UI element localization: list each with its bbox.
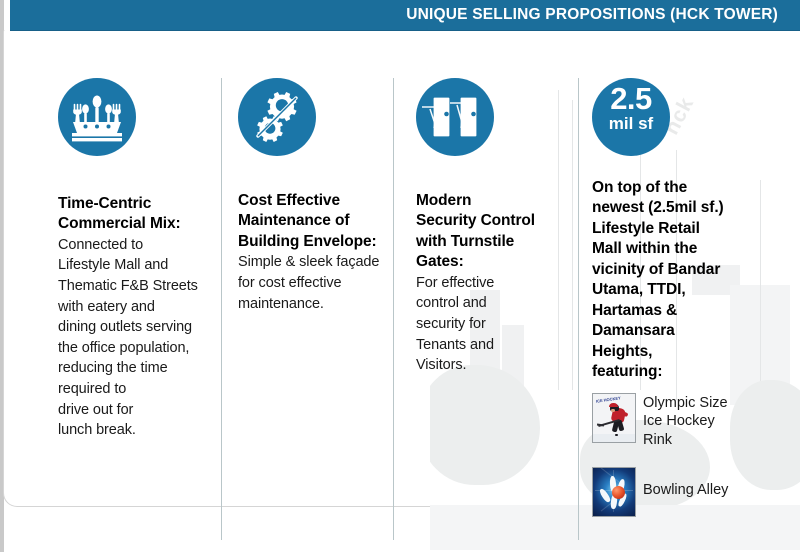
feature-label: Bowling Alley: [643, 467, 728, 500]
crown-cutlery-icon: [58, 78, 136, 156]
column-heading: Time-Centric Commercial Mix:: [58, 194, 216, 235]
column-divider-2: [393, 78, 394, 540]
column-heading: On top of the newest (2.5mil sf.) Lifest…: [592, 178, 792, 383]
gears-wrench-icon: [238, 78, 316, 156]
column-divider-3: [578, 78, 579, 540]
stat-number: 2.5: [592, 83, 670, 114]
ice-hockey-photo: ICE HOCKEY: [592, 393, 636, 443]
usp-column-time-centric: Time-Centric Commercial Mix: Connected t…: [58, 78, 216, 441]
column-body: For effective control and security for T…: [416, 273, 574, 376]
slide-canvas: hck UNIQUE SELLING PROPOSITIONS (HCK TOW…: [0, 0, 800, 552]
column-heading: Modern Security Control with Turnstile G…: [416, 191, 574, 273]
header-bar: UNIQUE SELLING PROPOSITIONS (HCK TOWER): [10, 0, 800, 31]
bowling-photo: [592, 467, 636, 517]
feature-label: Olympic Size Ice Hockey Rink: [643, 393, 728, 450]
page-title: UNIQUE SELLING PROPOSITIONS (HCK TOWER): [406, 6, 778, 24]
usp-column-security-control: Modern Security Control with Turnstile G…: [416, 78, 574, 376]
stat-unit: mil sf: [592, 115, 670, 132]
feature-item-ice-hockey: ICE HOCKEY Olympic Size Ice Hockey: [592, 393, 792, 450]
usp-column-lifestyle-mall: 2.5 mil sf On top of the newest (2.5mil …: [592, 78, 792, 517]
feature-item-bowling: Bowling Alley: [592, 467, 792, 517]
column-divider-1: [221, 78, 222, 540]
column-body: Simple & sleek façade for cost effective…: [238, 252, 390, 314]
left-gutter-strip: [0, 0, 4, 552]
column-heading: Cost Effective Maintenance of Building E…: [238, 191, 390, 252]
turnstile-gates-icon: [416, 78, 494, 156]
usp-column-cost-effective: Cost Effective Maintenance of Building E…: [238, 78, 390, 314]
column-body: Connected to Lifestyle Mall and Thematic…: [58, 235, 216, 441]
stat-badge-2-5-mil-sf: 2.5 mil sf: [592, 78, 670, 156]
